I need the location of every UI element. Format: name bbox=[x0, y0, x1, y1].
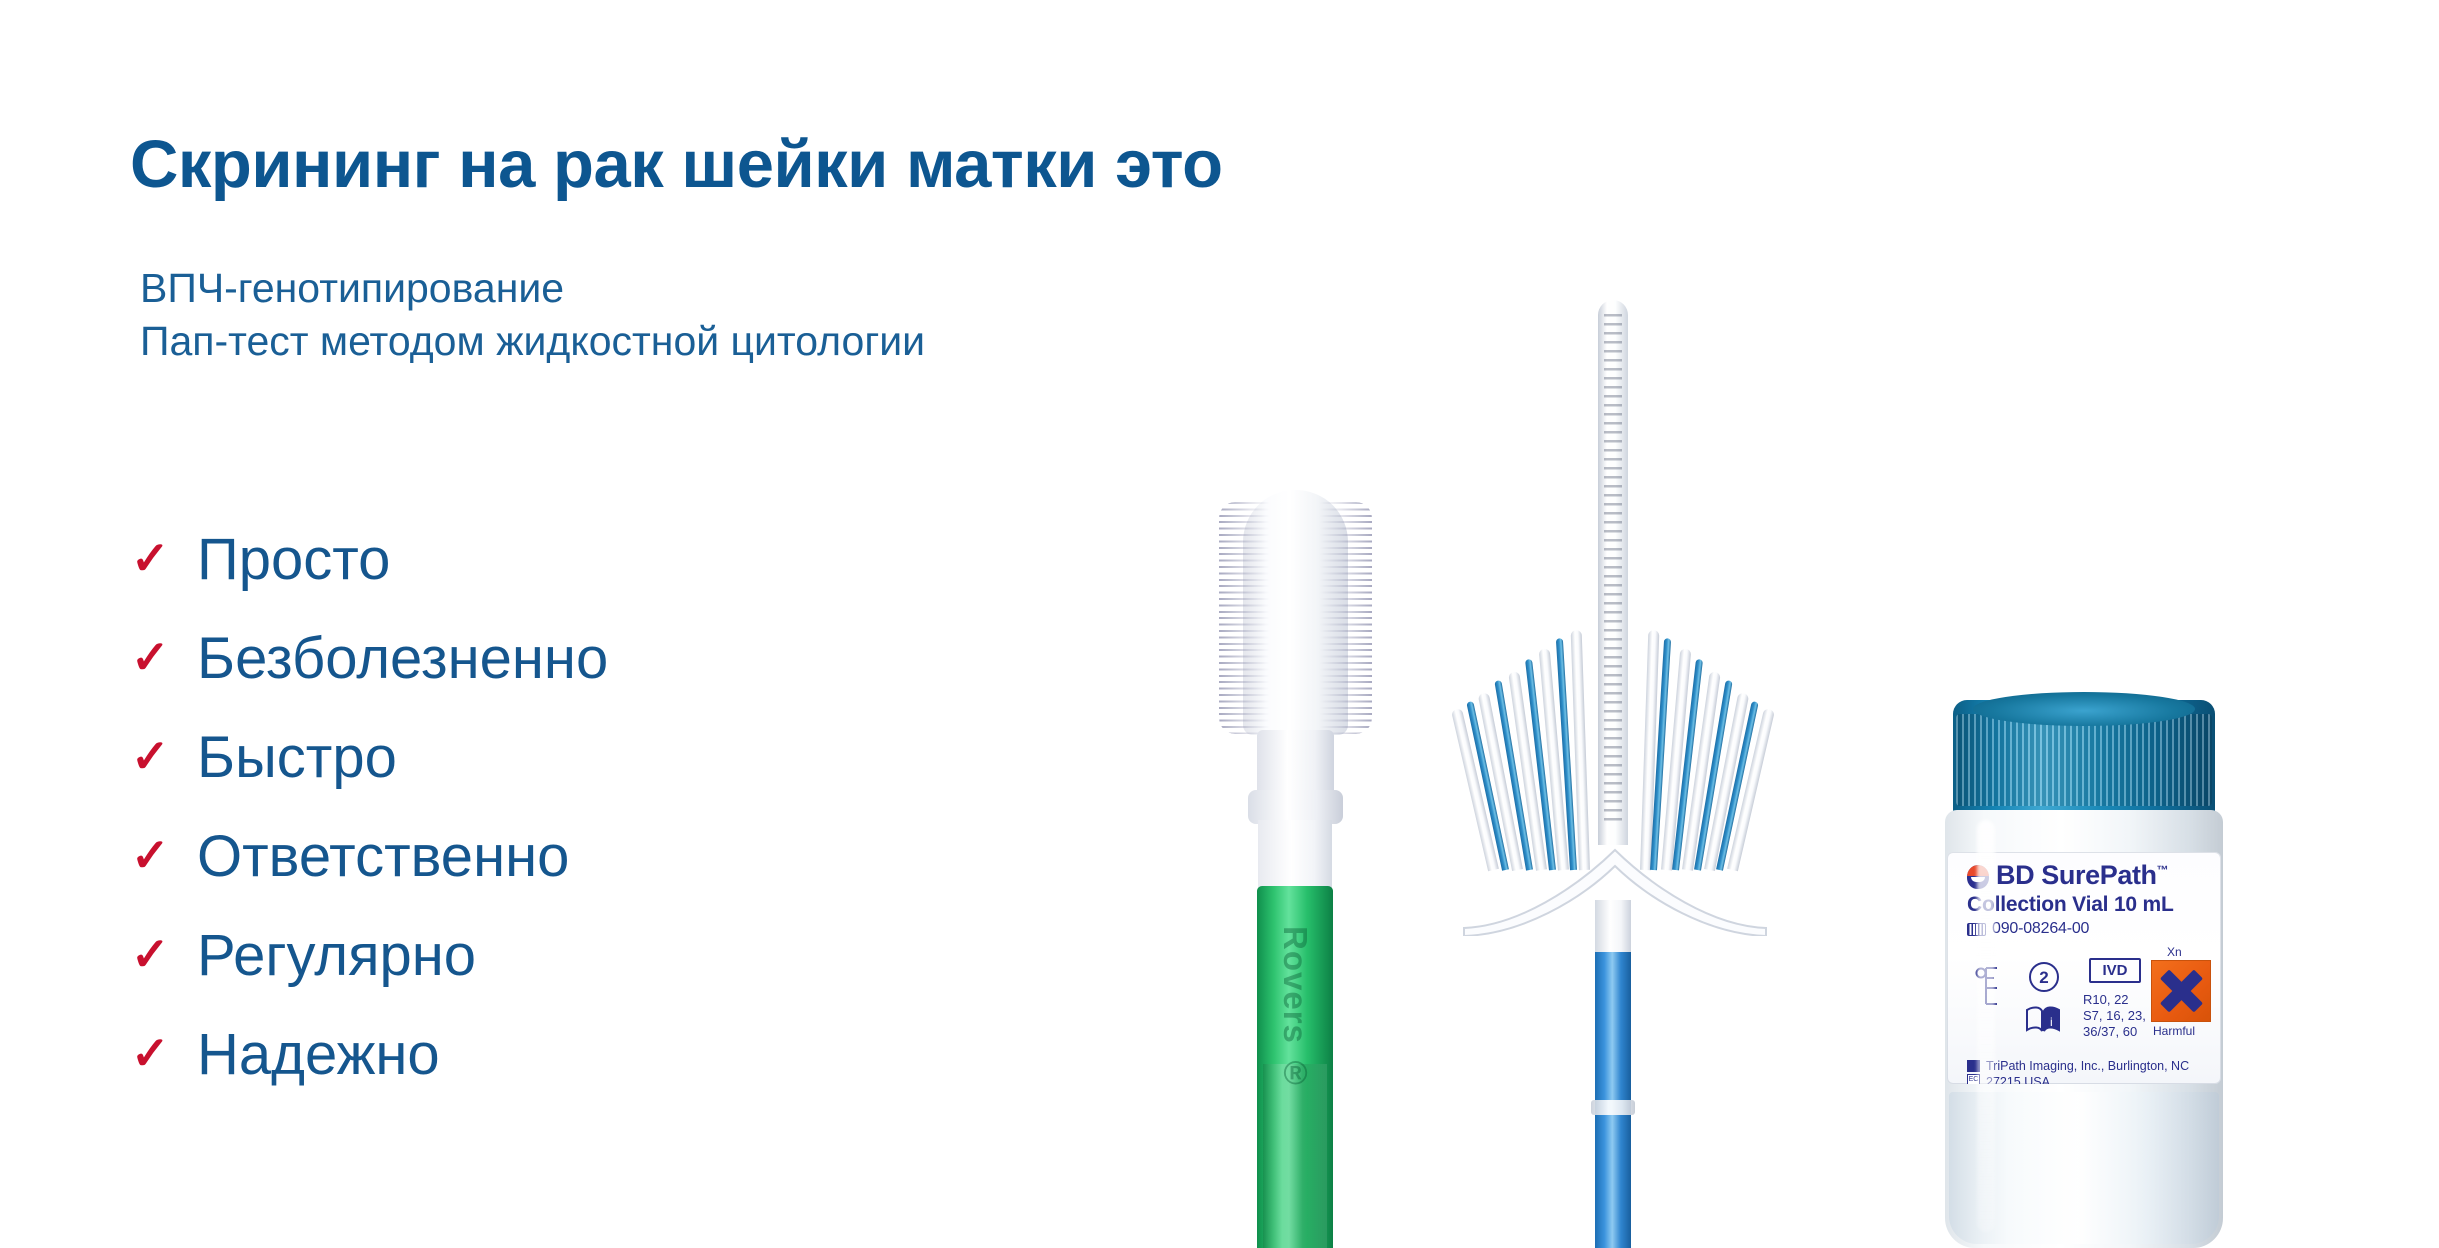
ivd-icon: IVD bbox=[2089, 958, 2141, 983]
slide-root: Скрининг на рак шейки матки это ВПЧ-гено… bbox=[0, 0, 2439, 1248]
list-item: ✓ Регулярно bbox=[125, 906, 608, 1005]
product-photo-group: Rovers ® bbox=[1150, 0, 2439, 1248]
subtitle-block: ВПЧ-генотипирование Пап-тест методом жид… bbox=[140, 262, 925, 368]
benefit-label-regulyarno: Регулярно bbox=[197, 922, 476, 989]
cervex-brush-bristle-fan bbox=[1450, 550, 1780, 870]
vial-catalog-number: 090-08264-00 bbox=[1992, 920, 2089, 938]
list-item: ✓ Ответственно bbox=[125, 807, 608, 906]
cytobrush-neck bbox=[1257, 730, 1334, 798]
single-use-icon: 2 bbox=[2029, 962, 2059, 992]
benefit-label-otvetstvenno: Ответственно bbox=[197, 823, 569, 890]
manufacturer-line: TriPath Imaging, Inc., Burlington, NC 27… bbox=[1986, 1058, 2205, 1084]
risk-phrase-line: R10, 22 bbox=[2083, 992, 2146, 1008]
cervex-brush-ring bbox=[1591, 1100, 1635, 1115]
benefit-label-bystro: Быстро bbox=[197, 724, 397, 791]
benefit-label-bezboleznenno: Безболезненно bbox=[197, 625, 608, 692]
list-item: ✓ Быстро bbox=[125, 708, 608, 807]
vial-brand-name: BD SurePath™ bbox=[1996, 862, 2168, 889]
check-icon: ✓ bbox=[125, 535, 197, 581]
vial-risk-phrases: R10, 22 S7, 16, 23, 36/37, 60 bbox=[2083, 992, 2146, 1040]
hazard-code-label: Xn bbox=[2167, 945, 2182, 959]
benefits-checklist: ✓ Просто ✓ Безболезненно ✓ Быстро ✓ Отве… bbox=[125, 510, 608, 1104]
hazard-cross-glyph bbox=[2160, 970, 2202, 1012]
check-icon: ✓ bbox=[125, 931, 197, 977]
harmful-hazard-icon bbox=[2151, 960, 2211, 1022]
benefit-label-nadezhno: Надежно bbox=[197, 1021, 440, 1088]
cervex-brush-image bbox=[1450, 300, 1780, 1248]
vial-manufacturer-block: EC REP TriPath Imaging, Inc., Burlington… bbox=[1967, 1058, 2205, 1084]
cervex-brush-sleeve-highlight bbox=[1590, 948, 1636, 1248]
text-column: Скрининг на рак шейки матки это ВПЧ-гено… bbox=[0, 0, 1150, 1248]
check-icon: ✓ bbox=[125, 634, 197, 680]
check-icon: ✓ bbox=[125, 733, 197, 779]
cytobrush-white-stem bbox=[1258, 820, 1332, 892]
check-icon: ✓ bbox=[125, 832, 197, 878]
manufacturer-lines: TriPath Imaging, Inc., Burlington, NC 27… bbox=[1986, 1058, 2205, 1084]
subtitle-line-pap: Пап-тест методом жидкостной цитологии bbox=[140, 315, 925, 368]
vial-symbol-block: 2 i IVD R10, 22 S7, 16, 23, 36/37, 60 bbox=[1967, 948, 2205, 1056]
subtitle-line-hpv: ВПЧ-генотипирование bbox=[140, 262, 925, 315]
vial-product-line: Collection Vial 10 mL bbox=[1967, 893, 2205, 917]
check-icon: ✓ bbox=[125, 1030, 197, 1076]
vial-catalog-row: 090-08264-00 bbox=[1967, 920, 2205, 938]
trademark-symbol: ™ bbox=[2157, 863, 2169, 877]
page-title: Скрининг на рак шейки матки это bbox=[130, 126, 1223, 203]
consult-instructions-icon: i bbox=[2025, 1004, 2061, 1039]
vial-label-brand-row: BD SurePath™ bbox=[1967, 862, 2205, 889]
vial-highlight bbox=[1977, 820, 1995, 1232]
cytobrush-image: Rovers ® bbox=[1195, 490, 1395, 1248]
list-item: ✓ Безболезненно bbox=[125, 609, 608, 708]
risk-phrase-line: 36/37, 60 bbox=[2083, 1024, 2146, 1040]
surepath-vial-image: BD SurePath™ Collection Vial 10 mL 090-0… bbox=[1935, 700, 2235, 1248]
list-item: ✓ Надежно bbox=[125, 1005, 608, 1104]
vial-cap-top bbox=[1973, 692, 2195, 726]
list-item: ✓ Просто bbox=[125, 510, 608, 609]
cytobrush-collar bbox=[1248, 790, 1343, 824]
risk-phrase-line: S7, 16, 23, bbox=[2083, 1008, 2146, 1024]
cytobrush-bristles bbox=[1219, 502, 1372, 734]
cytobrush-brand-embossing: Rovers ® bbox=[1257, 894, 1333, 1124]
benefit-label-prosto: Просто bbox=[197, 526, 390, 593]
hazard-word-label: Harmful bbox=[2153, 1024, 2195, 1038]
svg-text:i: i bbox=[2050, 1015, 2053, 1029]
